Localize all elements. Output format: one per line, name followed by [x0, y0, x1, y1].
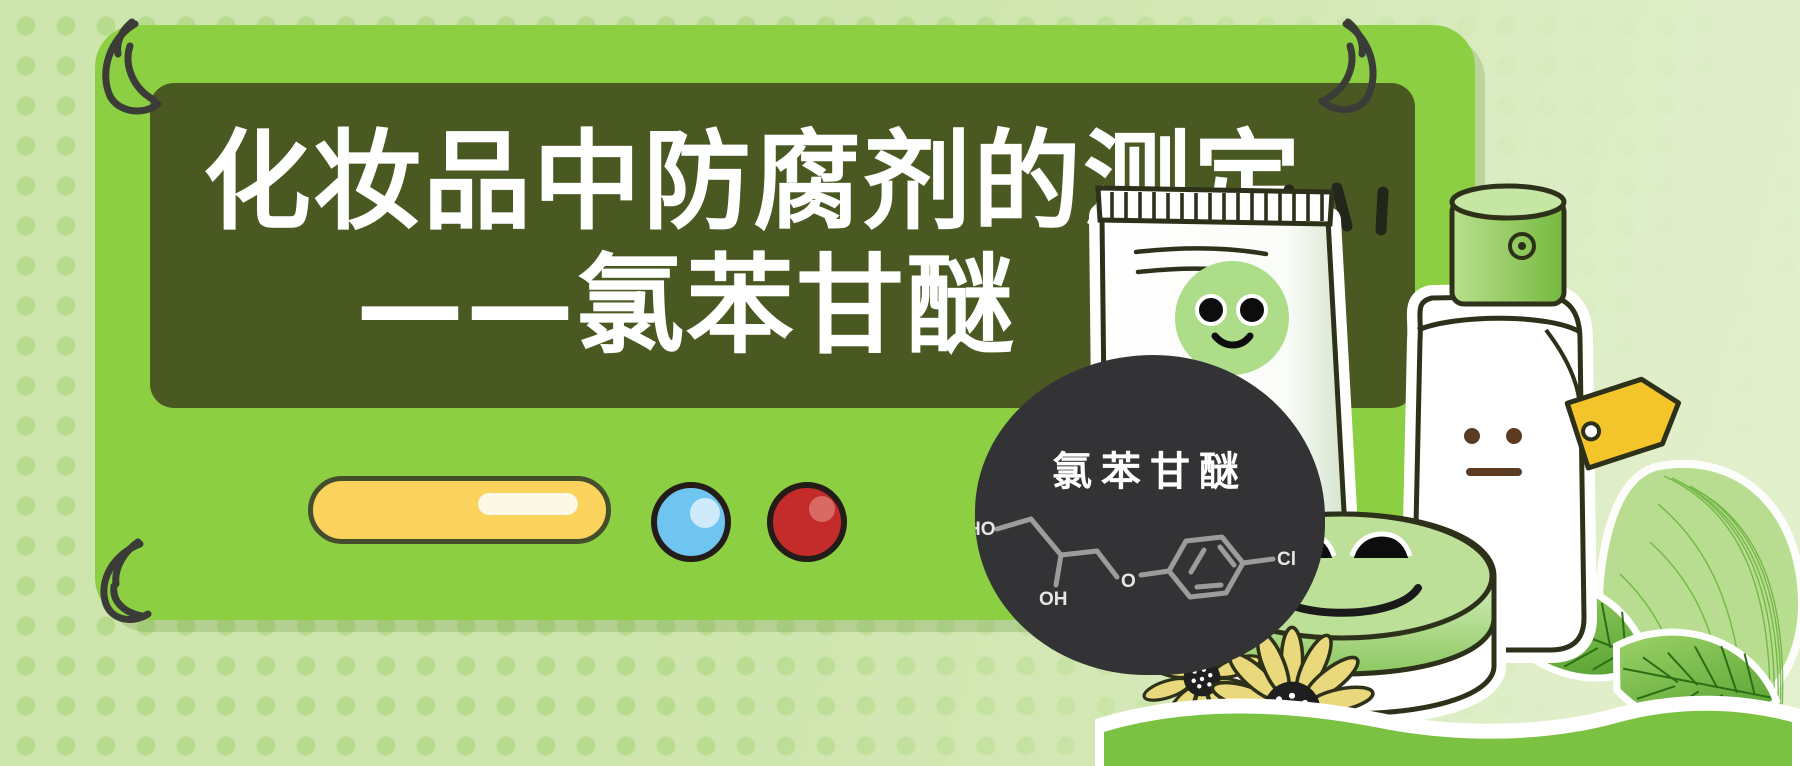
blue-dot-highlight	[690, 498, 720, 528]
red-dot	[767, 482, 847, 562]
chem-label-oh: OH	[1039, 589, 1068, 610]
tube-face	[1175, 261, 1289, 375]
chem-label-ho: HO	[975, 519, 996, 540]
badge-label: 氯苯甘醚	[975, 439, 1325, 497]
compound-badge: 氯苯甘醚 HO OH O Cl	[975, 355, 1325, 675]
chemical-structure-diagram: HO OH O Cl	[975, 493, 1325, 633]
chem-label-o: O	[1121, 571, 1136, 592]
red-dot-highlight	[809, 496, 835, 522]
capsule-highlight	[478, 493, 578, 515]
capsule-shape	[308, 476, 611, 544]
chem-label-cl: Cl	[1277, 549, 1296, 570]
blue-dot	[651, 482, 731, 562]
